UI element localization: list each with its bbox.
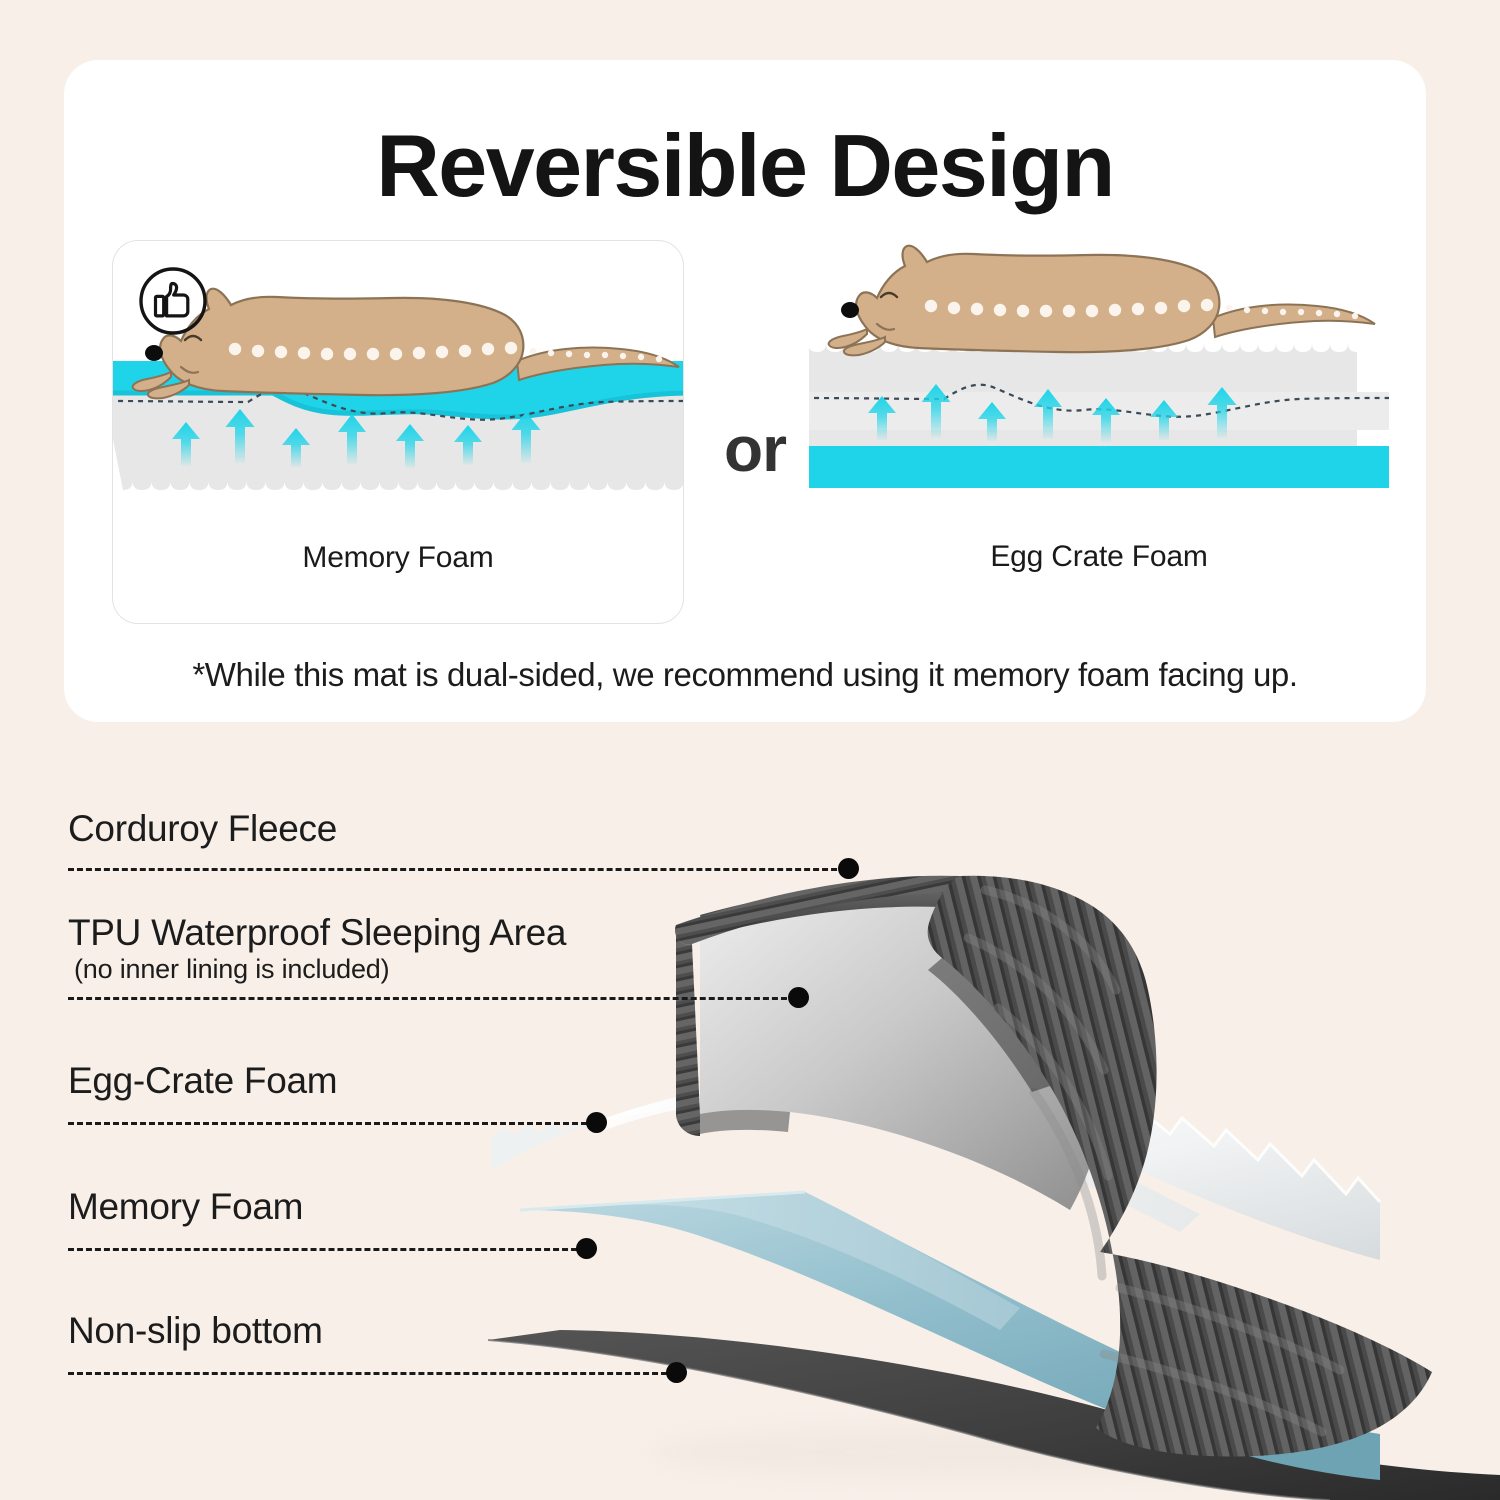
leader-line-corduroy-fleece bbox=[68, 868, 846, 871]
callout-corduroy-fleece: Corduroy Fleece bbox=[68, 808, 337, 849]
egg-crate-foam-illustration bbox=[809, 240, 1389, 540]
callout-memory-foam: Memory Foam bbox=[68, 1186, 303, 1227]
callout-label: Egg-Crate Foam bbox=[68, 1060, 337, 1101]
thumbs-up-icon bbox=[138, 266, 208, 336]
callout-egg-crate-foam: Egg-Crate Foam bbox=[68, 1060, 337, 1101]
leader-dot-memory-foam bbox=[576, 1238, 597, 1259]
callout-sublabel: (no inner lining is included) bbox=[68, 953, 566, 985]
or-divider-label: or bbox=[700, 412, 810, 486]
layer-breakdown-section: Corduroy Fleece TPU Waterproof Sleeping … bbox=[0, 740, 1500, 1500]
reversible-design-card: Reversible Design bbox=[64, 60, 1426, 722]
leader-dot-egg-crate-foam bbox=[586, 1112, 607, 1133]
leader-line-memory-foam bbox=[68, 1248, 586, 1251]
leader-line-non-slip-bottom bbox=[68, 1372, 676, 1375]
callout-label: Corduroy Fleece bbox=[68, 808, 337, 849]
callout-label: TPU Waterproof Sleeping Area bbox=[68, 912, 566, 953]
page-title: Reversible Design bbox=[64, 122, 1426, 210]
callout-label: Memory Foam bbox=[68, 1186, 303, 1227]
product-exploded-view bbox=[0, 740, 1500, 1500]
callout-label: Non-slip bottom bbox=[68, 1310, 323, 1351]
memory-foam-caption: Memory Foam bbox=[113, 541, 683, 575]
callout-tpu-waterproof: TPU Waterproof Sleeping Area (no inner l… bbox=[68, 912, 566, 986]
leader-line-tpu-waterproof bbox=[68, 997, 796, 1000]
leader-dot-tpu-waterproof bbox=[788, 987, 809, 1008]
leader-dot-corduroy-fleece bbox=[838, 858, 859, 879]
memory-foam-panel: Memory Foam bbox=[112, 240, 684, 624]
leader-line-egg-crate-foam bbox=[68, 1122, 596, 1125]
footnote-text: *While this mat is dual-sided, we recomm… bbox=[64, 656, 1426, 694]
egg-crate-foam-panel: Egg Crate Foam bbox=[809, 240, 1389, 622]
callout-non-slip-bottom: Non-slip bottom bbox=[68, 1310, 323, 1351]
dog-illustration bbox=[829, 246, 1375, 356]
infographic-root: Reversible Design bbox=[0, 0, 1500, 1500]
leader-dot-non-slip-bottom bbox=[666, 1362, 687, 1383]
egg-crate-foam-caption: Egg Crate Foam bbox=[809, 540, 1389, 574]
